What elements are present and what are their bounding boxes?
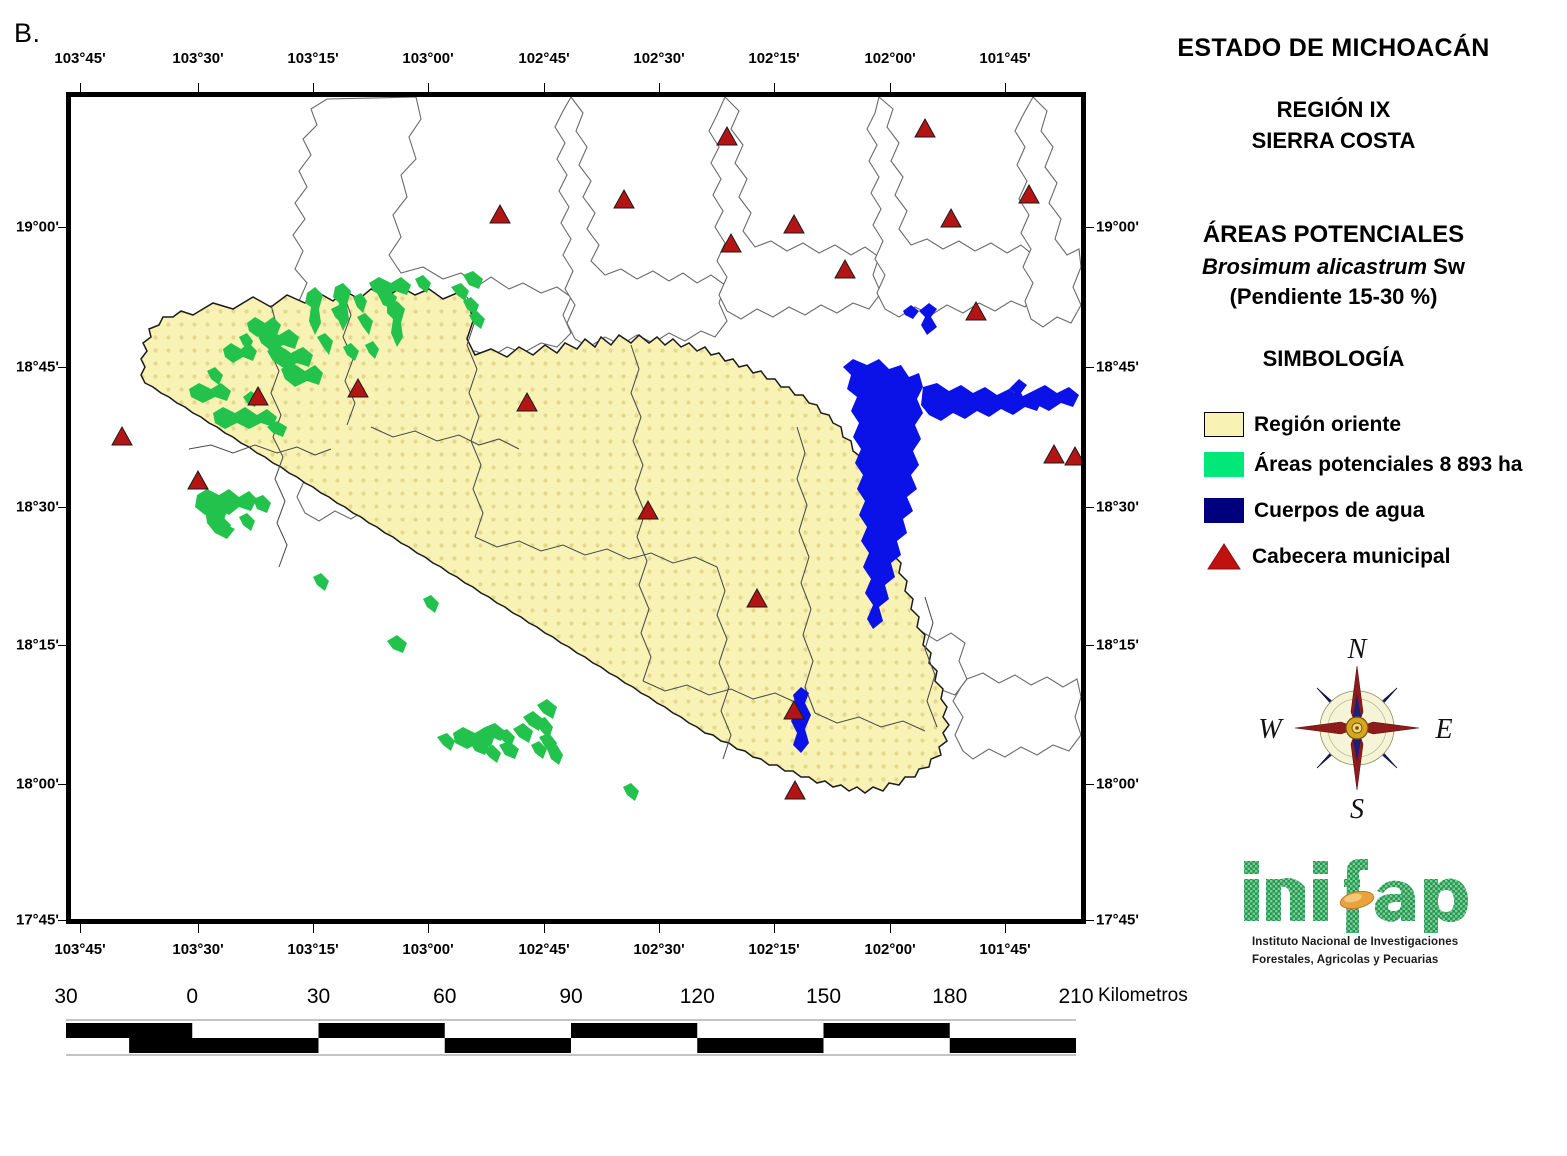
lon-tick — [313, 83, 314, 92]
species-authority: Sw — [1433, 254, 1465, 279]
lat-tick — [58, 507, 66, 508]
scale-tick-label: 60 — [433, 985, 456, 1009]
svg-text:S: S — [1350, 794, 1364, 823]
lat-tick — [1086, 920, 1094, 921]
scale-tick-label: 30 — [54, 985, 77, 1009]
lat-tick-label: 18°30' — [16, 499, 59, 516]
lon-tick — [428, 83, 429, 92]
map-frame[interactable] — [66, 92, 1086, 924]
lat-tick — [1086, 367, 1094, 368]
lon-tick — [890, 83, 891, 92]
legend-label-areas-potenciales: Áreas potenciales 8 893 ha — [1254, 454, 1522, 475]
logo-subtitle-line1: Instituto Nacional de Investigaciones — [1252, 935, 1500, 951]
svg-text:W: W — [1258, 714, 1284, 745]
scale-units-label: Kilometros — [1098, 985, 1188, 1007]
lon-tick — [774, 83, 775, 92]
scale-segment — [824, 1023, 950, 1038]
lat-tick — [58, 645, 66, 646]
inifap-logo: Instituto Nacional de Investigaciones Fo… — [1240, 855, 1500, 968]
lat-tick-label: 19°00' — [16, 219, 59, 236]
scale-segment — [445, 1038, 571, 1053]
lon-tick-label: 102°00' — [864, 941, 915, 958]
lat-tick — [1086, 227, 1094, 228]
scale-segment — [129, 1038, 217, 1053]
title-state: ESTADO DE MICHOACÁN — [1100, 34, 1567, 63]
lat-tick — [58, 367, 66, 368]
lon-tick-label: 103°30' — [172, 941, 223, 958]
lon-tick — [774, 924, 775, 933]
lat-tick — [58, 920, 66, 921]
lat-tick-label: 18°45' — [16, 359, 59, 376]
inifap-wordmark-icon — [1240, 855, 1470, 933]
legend-title: SIMBOLOGÍA — [1100, 346, 1567, 372]
compass-rose-icon: N S W E — [1252, 628, 1462, 823]
scale-tick-label: 0 — [186, 985, 198, 1009]
scale-segment — [571, 1023, 697, 1038]
lon-tick — [1005, 924, 1006, 933]
lon-tick — [198, 83, 199, 92]
triangle-icon — [1204, 542, 1244, 570]
legend-item-areas-potenciales[interactable]: Áreas potenciales 8 893 ha — [1204, 447, 1564, 481]
lon-tick-label: 103°30' — [172, 50, 223, 67]
lon-tick-label: 103°45' — [54, 50, 105, 67]
lat-tick — [1086, 507, 1094, 508]
compass-rose: N S W E — [1252, 628, 1462, 823]
lon-tick-label: 103°15' — [287, 941, 338, 958]
lon-tick-label: 102°45' — [518, 941, 569, 958]
lon-tick — [313, 924, 314, 933]
lat-tick — [1086, 784, 1094, 785]
lat-tick-label: 18°00' — [16, 776, 59, 793]
lon-tick-label: 102°15' — [748, 941, 799, 958]
cabecera-municipal-swatch — [1204, 542, 1244, 570]
lon-tick-label: 101°45' — [979, 941, 1030, 958]
lat-tick — [58, 227, 66, 228]
lon-tick — [890, 924, 891, 933]
legend-item-cuerpos-agua[interactable]: Cuerpos de agua — [1204, 493, 1564, 527]
title-slope-class: (Pendiente 15-30 %) — [1100, 284, 1567, 310]
legend-label-cuerpos-agua: Cuerpos de agua — [1254, 500, 1424, 521]
title-subject: ÁREAS POTENCIALES — [1100, 221, 1567, 249]
scale-segment — [950, 1038, 1076, 1053]
title-region-name: SIERRA COSTA — [1100, 128, 1567, 154]
map-info-panel: ESTADO DE MICHOACÁN REGIÓN IX SIERRA COS… — [1100, 0, 1567, 1156]
lon-tick — [80, 83, 81, 92]
scale-tick-label: 90 — [559, 985, 582, 1009]
legend: Región oriente Áreas potenciales 8 893 h… — [1204, 407, 1564, 579]
panel-letter: B. — [14, 18, 41, 49]
lon-tick — [659, 924, 660, 933]
areas-potenciales-swatch — [1204, 452, 1244, 477]
species-binomial: Brosimum alicastrum — [1202, 254, 1427, 279]
lon-tick — [1005, 83, 1006, 92]
lon-tick — [428, 924, 429, 933]
lon-tick — [198, 924, 199, 933]
lat-tick — [58, 784, 66, 785]
lon-tick — [544, 924, 545, 933]
scale-tick-label: 30 — [307, 985, 330, 1009]
scale-tick-label: 210 — [1058, 985, 1093, 1009]
title-region: REGIÓN IX — [1100, 97, 1567, 123]
lon-tick-label: 103°45' — [54, 941, 105, 958]
title-species: Brosimum alicastrum Sw — [1100, 254, 1567, 280]
logo-subtitle-line2: Forestales, Agricolas y Pecuarias — [1252, 953, 1500, 969]
lon-tick-label: 103°00' — [402, 941, 453, 958]
corn-seed-accent — [1339, 889, 1376, 912]
legend-item-cabecera-municipal[interactable]: Cabecera municipal — [1204, 539, 1564, 573]
legend-item-region-oriente[interactable]: Región oriente — [1204, 407, 1564, 441]
scale-segment — [319, 1023, 445, 1038]
region-oriente-swatch — [1204, 412, 1244, 437]
lon-tick — [659, 83, 660, 92]
lon-tick-label: 102°30' — [633, 50, 684, 67]
lat-tick — [1086, 645, 1094, 646]
lon-tick — [544, 83, 545, 92]
scale-segment — [697, 1038, 823, 1053]
lon-tick-label: 102°15' — [748, 50, 799, 67]
scale-tick-label: 150 — [806, 985, 841, 1009]
scale-tick-label: 180 — [932, 985, 967, 1009]
lon-tick-label: 101°45' — [979, 50, 1030, 67]
scale-bar-graphic — [66, 1018, 1076, 1056]
legend-label-cabecera-municipal: Cabecera municipal — [1252, 546, 1450, 567]
lon-tick — [80, 924, 81, 933]
svg-text:E: E — [1434, 714, 1452, 745]
legend-label-region-oriente: Región oriente — [1254, 414, 1401, 435]
scale-tick-label: 120 — [680, 985, 715, 1009]
map-canvas[interactable] — [71, 97, 1081, 919]
lon-tick-label: 102°00' — [864, 50, 915, 67]
lat-tick-label: 18°15' — [16, 637, 59, 654]
lon-tick-label: 102°30' — [633, 941, 684, 958]
lon-tick-label: 103°15' — [287, 50, 338, 67]
scale-segment — [66, 1023, 192, 1038]
cuerpos-agua-swatch — [1204, 498, 1244, 523]
lon-tick-label: 102°45' — [518, 50, 569, 67]
lat-tick-label: 17°45' — [16, 912, 59, 929]
lon-tick-label: 103°00' — [402, 50, 453, 67]
svg-text:N: N — [1347, 634, 1368, 665]
